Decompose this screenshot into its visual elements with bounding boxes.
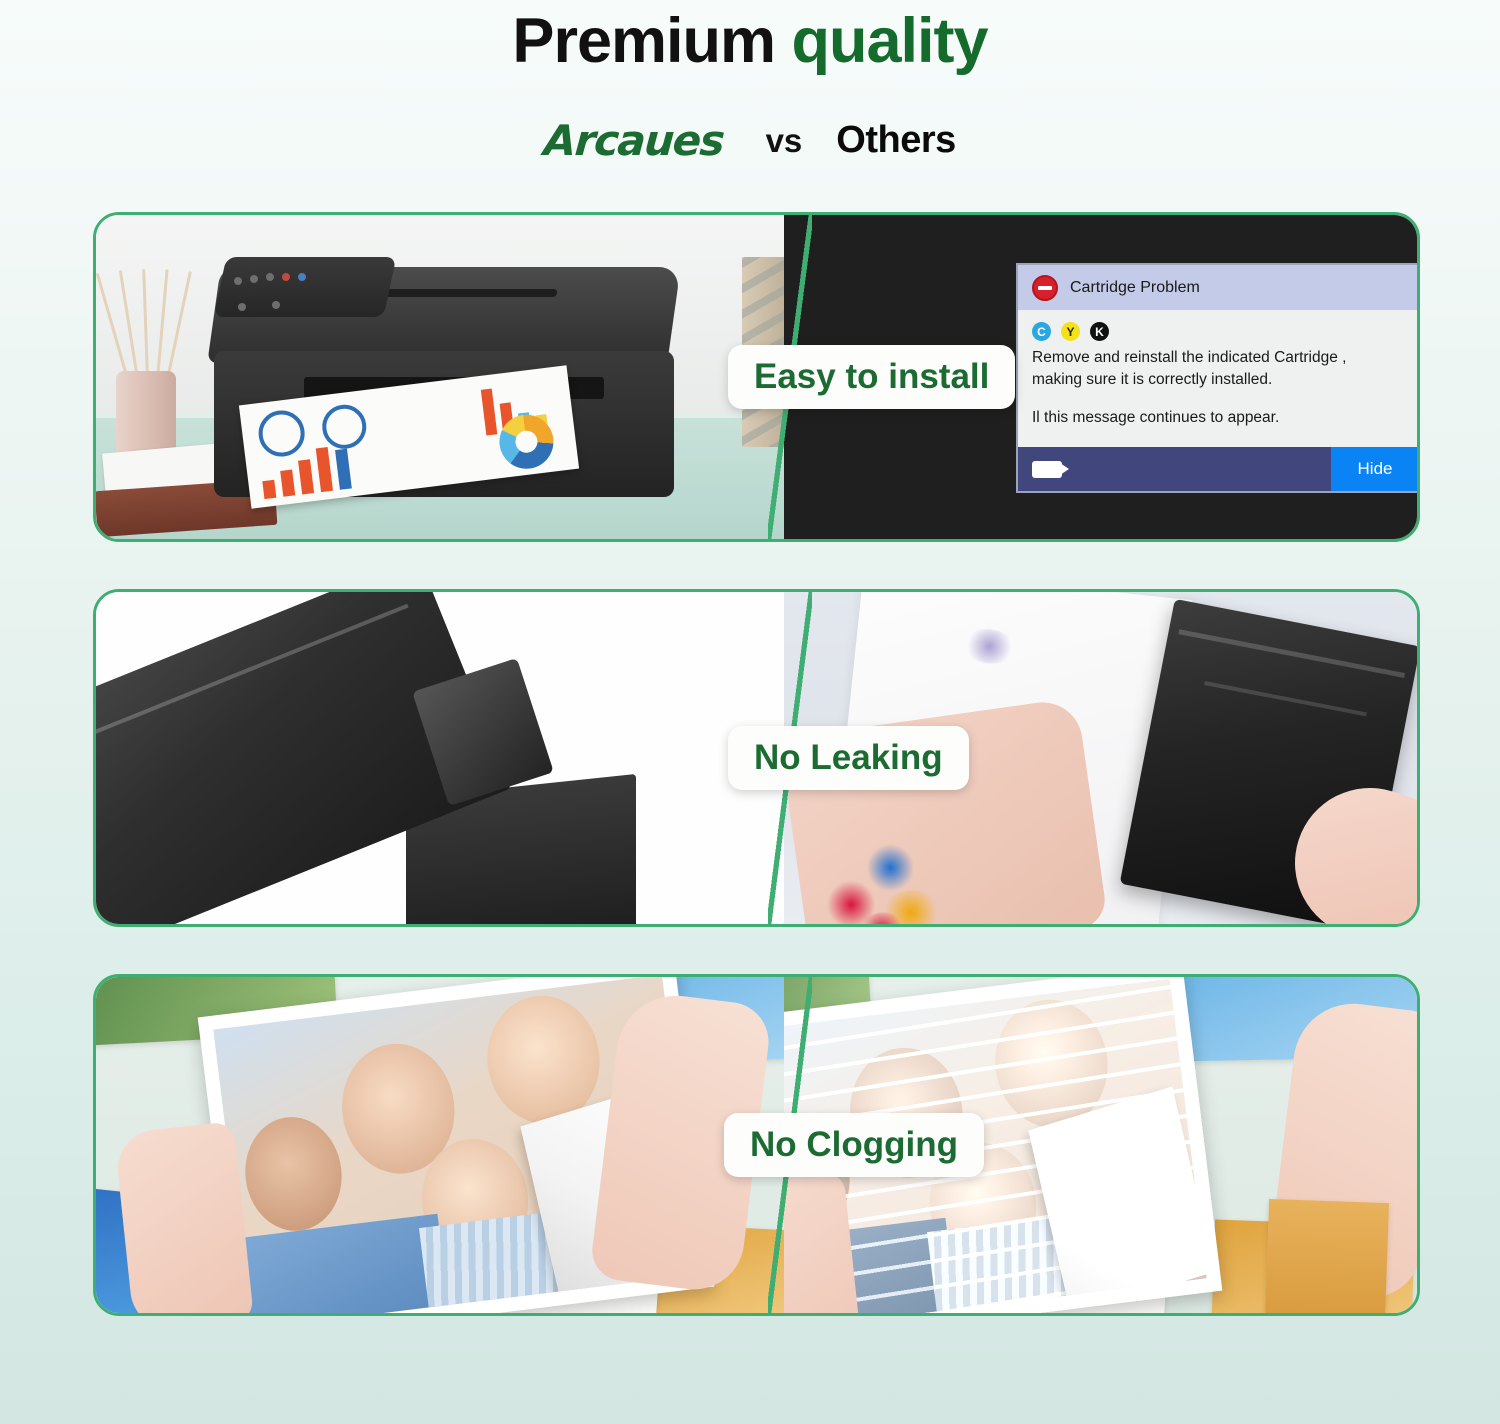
others-label: Others bbox=[836, 119, 955, 162]
printed-bar-chart-left bbox=[259, 443, 352, 499]
panel-no-clogging: No Clogging bbox=[93, 974, 1420, 1316]
clean-ink-cartridge bbox=[96, 654, 636, 924]
vs-label: vs bbox=[766, 122, 803, 160]
ink-cyan-icon: C bbox=[1032, 322, 1051, 341]
feature-label-easy-to-install: Easy to install bbox=[728, 345, 1015, 409]
reed-sticks-icon bbox=[122, 269, 178, 379]
feature-label-no-leaking: No Leaking bbox=[728, 726, 969, 790]
photo-prints-scene bbox=[96, 977, 784, 1313]
panel2-left-arcaues bbox=[96, 592, 784, 924]
dialog-body: C Y K Remove and reinstall the indicated… bbox=[1018, 310, 1419, 447]
dialog-footer: Hide bbox=[1018, 447, 1419, 491]
ink-stain-on-hand bbox=[862, 841, 920, 894]
no-entry-icon bbox=[1032, 275, 1058, 301]
desert-walker-photo bbox=[1265, 1199, 1389, 1313]
cartridge-problem-dialog: Cartridge Problem C Y K Remove and reins… bbox=[1016, 263, 1420, 493]
printer-scene bbox=[96, 215, 784, 539]
brand-comparison-row: Arcaues vs Others bbox=[0, 116, 1500, 165]
hand-left-holding-photo bbox=[114, 1121, 254, 1313]
dialog-titlebar: Cartridge Problem bbox=[1018, 265, 1419, 310]
page-header: Premium quality Arcaues vs Others bbox=[0, 0, 1500, 165]
ink-indicator-row: C Y K bbox=[1032, 322, 1405, 341]
panel-no-leaking: No Leaking bbox=[93, 589, 1420, 927]
headline-black-part: Premium bbox=[512, 6, 791, 76]
dialog-message-line-3: Il this message continues to appear. bbox=[1032, 407, 1405, 429]
brand-logo: Arcaues bbox=[543, 116, 726, 165]
feature-label-no-clogging: No Clogging bbox=[724, 1113, 984, 1177]
white-background bbox=[96, 592, 784, 924]
page-title: Premium quality bbox=[0, 4, 1500, 78]
panel-easy-to-install: Cartridge Problem C Y K Remove and reins… bbox=[93, 212, 1420, 542]
panel3-left-arcaues bbox=[96, 977, 784, 1313]
hide-button[interactable]: Hide bbox=[1331, 447, 1419, 491]
ink-black-icon: K bbox=[1090, 322, 1109, 341]
dialog-message-line-2: making sure it is correctly installed. bbox=[1032, 369, 1405, 391]
comparison-panels: Cartridge Problem C Y K Remove and reins… bbox=[93, 212, 1420, 1363]
printer-control-panel bbox=[232, 273, 342, 321]
dialog-title-text: Cartridge Problem bbox=[1070, 279, 1200, 297]
camera-icon[interactable] bbox=[1032, 461, 1062, 478]
panel1-left-arcaues bbox=[96, 215, 784, 539]
dialog-message-line-1: Remove and reinstall the indicated Cartr… bbox=[1032, 347, 1405, 369]
ink-yellow-icon: Y bbox=[1061, 322, 1080, 341]
father-face bbox=[239, 1112, 348, 1237]
headline-green-part: quality bbox=[792, 6, 988, 76]
printer-device bbox=[214, 267, 674, 497]
dialog-spacer bbox=[1032, 391, 1405, 407]
blue-shirt bbox=[239, 1214, 449, 1313]
ink-splat bbox=[963, 627, 1016, 666]
